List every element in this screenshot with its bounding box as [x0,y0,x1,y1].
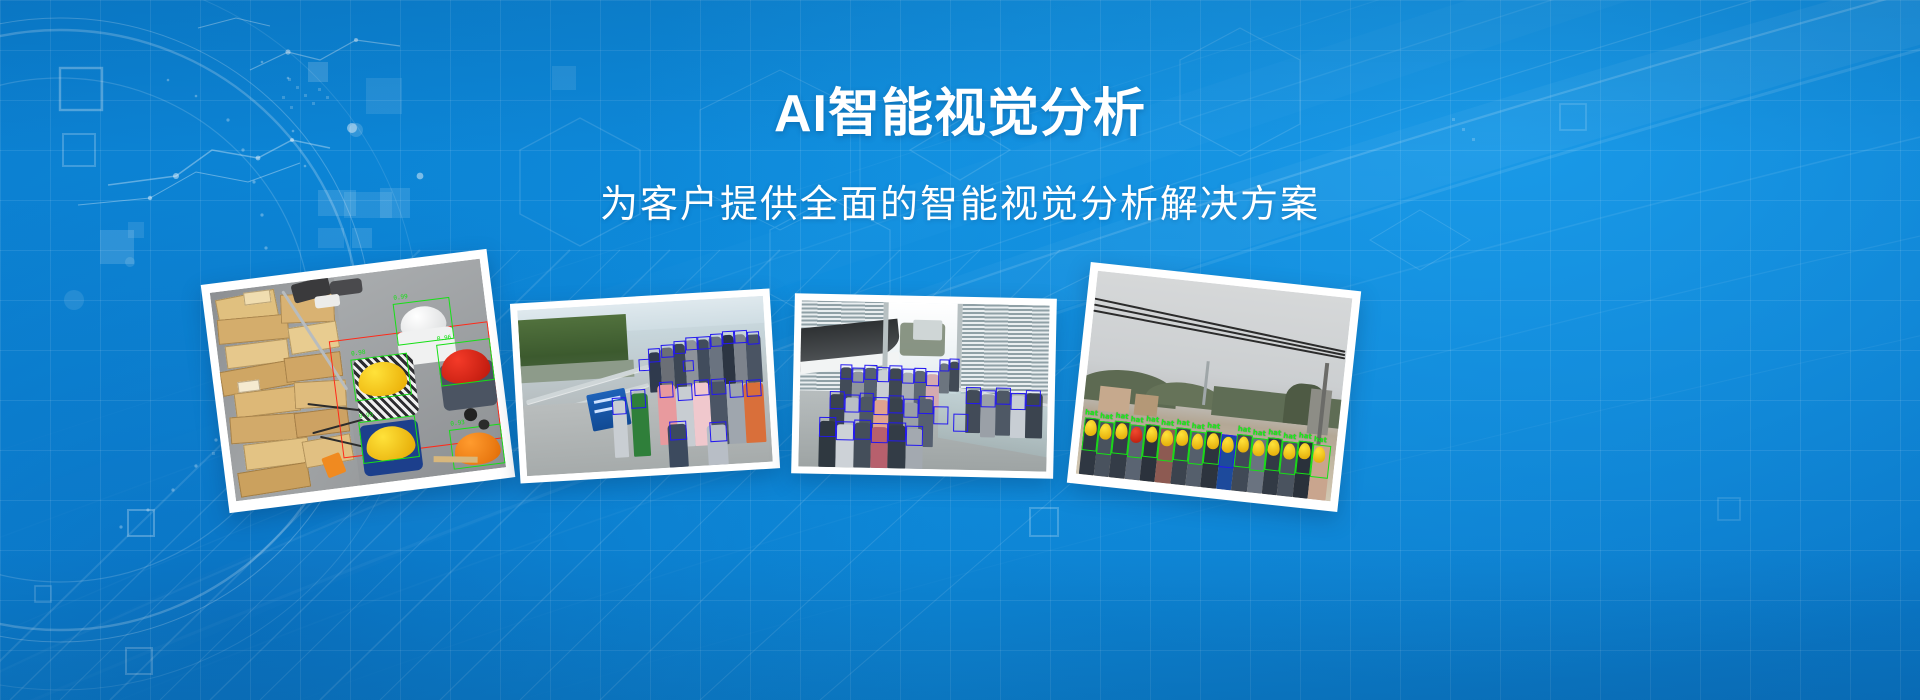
photo-pedestrian-bridge-face-detection [517,296,772,476]
headline-block: AI智能视觉分析 为客户提供全面的智能视觉分析解决方案 [0,86,1920,229]
face-box [669,420,687,441]
photo-covered-walkway-crowd-detection [798,300,1049,471]
face-box [661,344,674,358]
face-box [630,389,646,408]
gallery-card-covered-walkway-crowd-detection[interactable] [791,293,1057,478]
gallery-card-outdoor-group-hat-detection[interactable]: hat hat hat hat hat hat hat hat [1067,262,1361,512]
hat-label: hat [1252,429,1266,437]
face-box [673,340,686,354]
face-box [683,360,695,372]
hat-label: hat [1161,419,1175,427]
hat-label: hat [1146,416,1160,424]
hat-label: hat [1176,419,1190,427]
hat-label: hat [1191,423,1205,431]
face-box [694,379,710,396]
gallery-card-warehouse-helmet-detection[interactable]: 0.99 0.98 0.96 [201,249,516,513]
face-box [611,397,627,414]
face-box [685,336,698,350]
hat-label: hat [1237,426,1251,434]
page-title: AI智能视觉分析 [0,86,1920,143]
face-box [746,379,762,396]
hat-label: hat [1298,432,1312,440]
page-subtitle: 为客户提供全面的智能视觉分析解决方案 [0,183,1920,229]
face-box [711,378,727,395]
face-box [710,333,723,347]
hat-label: hat [1207,422,1221,430]
face-box [722,331,735,345]
photo-outdoor-group-hat-detection: hat hat hat hat hat hat hat hat [1076,271,1353,501]
face-box [639,359,651,371]
hat-box [1310,444,1331,478]
face-box [677,383,693,400]
face-box [747,331,760,345]
ai-vision-banner: AI智能视觉分析 为客户提供全面的智能视觉分析解决方案 [0,0,1920,700]
photo-warehouse-helmet-detection: 0.99 0.98 0.96 [210,259,506,501]
gallery-card-pedestrian-bridge-face-detection[interactable] [510,288,780,483]
hat-label: hat [1115,412,1129,420]
face-box [658,381,674,398]
face-box [728,380,744,397]
hat-label: hat [1085,409,1099,417]
hat-label: hat [1268,429,1282,437]
hat-label: hat [1130,416,1144,424]
face-box [734,330,747,344]
hat-label: hat [1314,436,1328,444]
face-box [709,421,727,442]
hat-label: hat [1283,433,1297,441]
hat-label: hat [1100,413,1114,421]
face-box [697,336,710,350]
